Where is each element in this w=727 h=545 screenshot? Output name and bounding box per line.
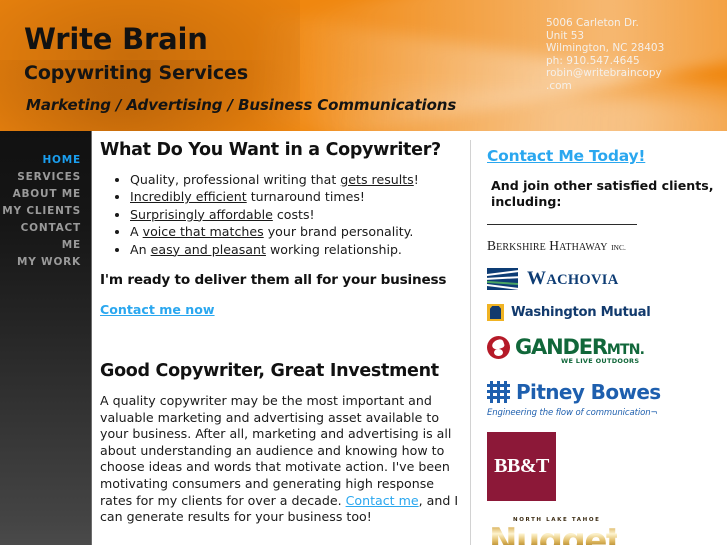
list-item: Surprisingly affordable costs! [130, 207, 462, 223]
pitney-bowes-logo-text: Pitney Bowes [516, 380, 661, 404]
brand-subtitle: Copywriting Services [24, 62, 248, 84]
bbt-logo-text: BB&T [494, 455, 549, 478]
gander-row: GANDERMTN. [487, 335, 719, 359]
bullet-pre: An [130, 242, 151, 257]
bullet-emphasis: easy and pleasant [151, 242, 266, 257]
client-logo-nugget: NORTH LAKE TAHOE Nugget [487, 515, 617, 545]
contact-address-line-2: Unit 53 [546, 30, 664, 43]
brand-tagline: Marketing / Advertising / Business Commu… [26, 96, 456, 114]
bullet-post: working relationship. [266, 242, 402, 257]
berk-athaway: ATHAWAY [559, 242, 607, 253]
pitney-bowes-tagline: Engineering the flow of communication¬ [487, 408, 719, 418]
section-1-heading: What Do You Want in a Copywriter? [100, 140, 462, 160]
contact-address-line-3: Wilmington, NC 28403 [546, 42, 664, 55]
client-logo-bbt: BB&T [487, 432, 719, 501]
bullet-emphasis: Surprisingly affordable [130, 207, 273, 222]
paragraph-pre: A quality copywriter may be the most imp… [100, 393, 451, 508]
right-rail: Contact Me Today! And join other satisfi… [487, 146, 719, 545]
washington-mutual-mark-icon [487, 304, 504, 321]
contact-address-line-1: 5006 Carleton Dr. [546, 17, 664, 30]
contact-me-now-link[interactable]: Contact me now [100, 302, 215, 317]
berk-inc: INC. [611, 243, 626, 252]
bullet-post: costs! [273, 207, 315, 222]
bullet-post: ! [414, 172, 419, 187]
contact-me-inline-link[interactable]: Contact me [346, 493, 419, 508]
brand-title: Write Brain [24, 24, 248, 54]
list-item: A voice that matches your brand personal… [130, 224, 462, 240]
client-logo-gander-mountain: GANDERMTN. WE LIVE OUTDOORS [487, 335, 719, 366]
gander-tagline: WE LIVE OUTDOORS [561, 357, 639, 365]
client-logo-list: BERKSHIRE HATHAWAY INC. WACHOVIA Washing… [487, 238, 719, 545]
bullet-post: your brand personality. [264, 224, 414, 239]
section-2: Good Copywriter, Great Investment A qual… [100, 361, 462, 526]
column-divider [470, 140, 471, 545]
bullet-emphasis: Incredibly efficient [130, 189, 247, 204]
wach-w: W [527, 268, 546, 289]
pitney-bowes-mark-icon [487, 381, 510, 403]
rail-subtitle: And join other satisfied clients, includ… [487, 178, 719, 209]
contact-phone: ph: 910.547.4645 [546, 55, 664, 68]
client-logo-pitney-bowes: Pitney Bowes Engineering the flow of com… [487, 380, 719, 418]
gander-mtn: MTN. [607, 342, 644, 358]
gander-duck-icon [487, 336, 510, 359]
contact-email-line-1: robin@writebraincopy [546, 67, 664, 80]
sidebar-item-services[interactable]: SERVICES [0, 169, 91, 186]
page-root: Write Brain Copywriting Services Marketi… [0, 0, 727, 545]
bullet-pre: Quality, professional writing that [130, 172, 340, 187]
header-contact-block: 5006 Carleton Dr. Unit 53 Wilmington, NC… [546, 17, 664, 93]
bullet-emphasis: voice that matches [143, 224, 264, 239]
list-item: Quality, professional writing that gets … [130, 172, 462, 188]
sidebar-nav: HOME SERVICES ABOUT ME MY CLIENTS CONTAC… [0, 131, 92, 545]
nugget-logo-text: Nugget [489, 521, 617, 545]
client-logo-washington-mutual: Washington Mutual [487, 304, 719, 321]
brand-block: Write Brain Copywriting Services [24, 24, 248, 84]
bullet-pre: A [130, 224, 143, 239]
sidebar-item-about-me[interactable]: ABOUT ME [0, 186, 91, 203]
sidebar-item-my-work[interactable]: MY WORK [0, 254, 91, 271]
washington-mutual-logo-text: Washington Mutual [511, 305, 650, 320]
list-item: Incredibly efficient turnaround times! [130, 189, 462, 205]
contact-me-today-link[interactable]: Contact Me Today! [487, 147, 645, 165]
wachovia-mark-icon [487, 268, 518, 290]
list-item: An easy and pleasant working relationshi… [130, 242, 462, 258]
bbt-logo-box: BB&T [487, 432, 556, 501]
gander-main: GANDER [515, 335, 607, 359]
berkshire-hathaway-logo-text: BERKSHIRE HATHAWAY INC. [487, 238, 719, 254]
benefits-list: Quality, professional writing that gets … [100, 172, 462, 258]
section-1-lead: I'm ready to deliver them all for your b… [100, 272, 462, 288]
pitney-bowes-row: Pitney Bowes [487, 380, 719, 404]
sidebar-item-my-clients[interactable]: MY CLIENTS [0, 203, 91, 220]
sidebar-item-contact-me[interactable]: CONTACT ME [0, 220, 91, 254]
main-content: What Do You Want in a Copywriter? Qualit… [100, 140, 462, 526]
contact-email-line-2: .com [546, 80, 664, 93]
gander-logo-text: GANDERMTN. [515, 335, 644, 359]
berk-b: B [487, 238, 496, 253]
site-header: Write Brain Copywriting Services Marketi… [0, 0, 727, 131]
berk-erkshire: ERKSHIRE [496, 242, 546, 253]
section-2-paragraph: A quality copywriter may be the most imp… [100, 393, 462, 526]
wach-rest: ACHOVIA [546, 272, 618, 288]
bullet-emphasis: gets results [340, 172, 413, 187]
bullet-post: turnaround times! [247, 189, 365, 204]
client-logo-wachovia: WACHOVIA [487, 268, 719, 290]
client-logo-berkshire-hathaway: BERKSHIRE HATHAWAY INC. [487, 238, 719, 254]
rail-divider [487, 224, 637, 225]
sidebar-item-home[interactable]: HOME [0, 152, 91, 169]
wachovia-logo-text: WACHOVIA [527, 268, 619, 290]
berk-h: H [549, 238, 559, 253]
section-2-heading: Good Copywriter, Great Investment [100, 361, 462, 381]
